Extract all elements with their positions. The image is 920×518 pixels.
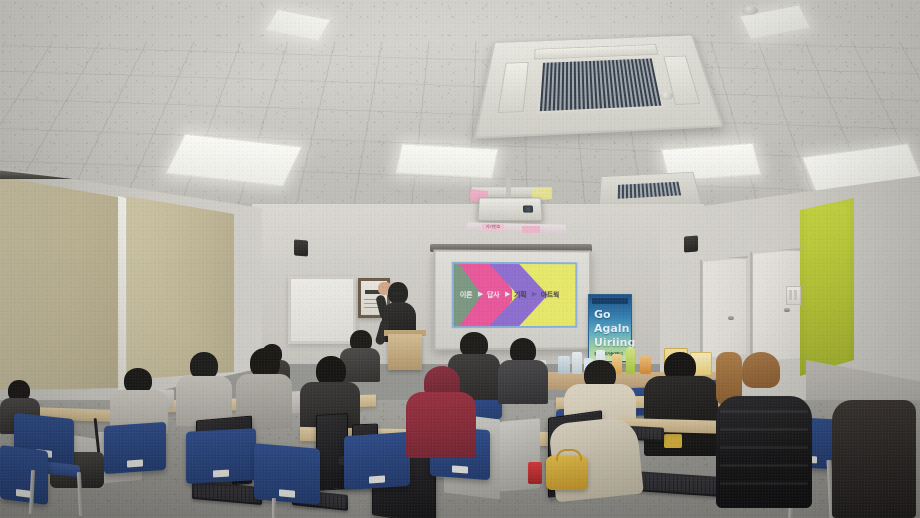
chair-label [369,475,385,483]
ceiling-light-panel [395,143,498,178]
chair-leg [272,498,276,518]
ac-vent [498,62,529,113]
slide-step-1: 이론 [460,290,472,300]
chair-label [213,470,229,478]
slide-arrow-icon: ▶ [478,290,483,298]
classroom-photo: 기기번호 이론 ▶ 답사 ▶ 기획 ▶ 아트웍 Go Agaln Uiriing… [0,0,920,518]
glasses-icon [392,293,404,297]
banner-line-1: Go [594,308,611,321]
ceiling-projector [477,198,543,221]
person-coat [498,360,548,404]
foreground-person [832,400,916,518]
switch-toggle[interactable] [789,290,792,300]
chair-label [127,459,143,467]
slide-step-3: 기획 [514,290,526,300]
person-puffer-jacket [716,396,812,508]
ac-grille [618,182,681,199]
podium [388,334,422,370]
window-blind [0,176,123,390]
foreground-person [716,352,812,518]
classroom-door[interactable] [702,258,748,360]
slide-step-4: 아트웍 [541,290,559,300]
audience-member [236,348,292,424]
puffer-seam [720,482,808,485]
slide-arrow-icon: ▶ [532,290,537,298]
slide-arrow-icon: ▶ [505,290,510,298]
audience-member-hoodie [406,366,476,454]
chair[interactable] [254,443,320,505]
puffer-seam [720,428,808,431]
chair[interactable] [104,422,166,474]
bag-handle [556,449,582,461]
chair[interactable] [186,428,256,484]
puffer-seam [720,464,808,467]
switch-toggle[interactable] [794,290,797,300]
light-switch-plate[interactable] [786,286,801,305]
ac-grille [538,57,664,113]
audience-member [498,338,548,400]
person-head [742,352,780,388]
smoke-detector-icon [742,6,758,15]
projector-tag: 기기번호 [482,224,504,231]
audience-member [176,352,232,424]
puffer-seam [720,446,808,449]
projector-lens-icon [523,205,533,212]
slide-step-2: 답사 [487,290,499,300]
banner-header-bar [592,298,628,304]
puffer-seam [720,410,808,413]
yellow-handbag[interactable] [546,456,588,490]
beverage-can[interactable] [528,462,542,484]
person-red-hoodie [406,392,476,458]
smoke-detector-icon [660,92,673,100]
chair[interactable] [344,432,410,491]
projected-slide: 이론 ▶ 답사 ▶ 기획 ▶ 아트웍 [452,262,578,328]
banner-line-2: Agaln [594,322,629,335]
wall-speaker [294,239,308,256]
chair[interactable] [0,445,48,505]
projector-tag [522,226,540,233]
chair-label [279,489,295,497]
chair-label [452,465,468,473]
lime-accent-wall-panel [800,198,854,376]
ceiling-ac-cassette [474,34,724,139]
person-puffer-coat [644,376,718,456]
person-coat [832,400,916,518]
coat-logo-patch [664,434,682,448]
wall-speaker [684,235,698,252]
door-handle-icon[interactable] [728,316,734,320]
door-handle-icon[interactable] [784,308,790,312]
classroom-door[interactable] [752,250,802,364]
